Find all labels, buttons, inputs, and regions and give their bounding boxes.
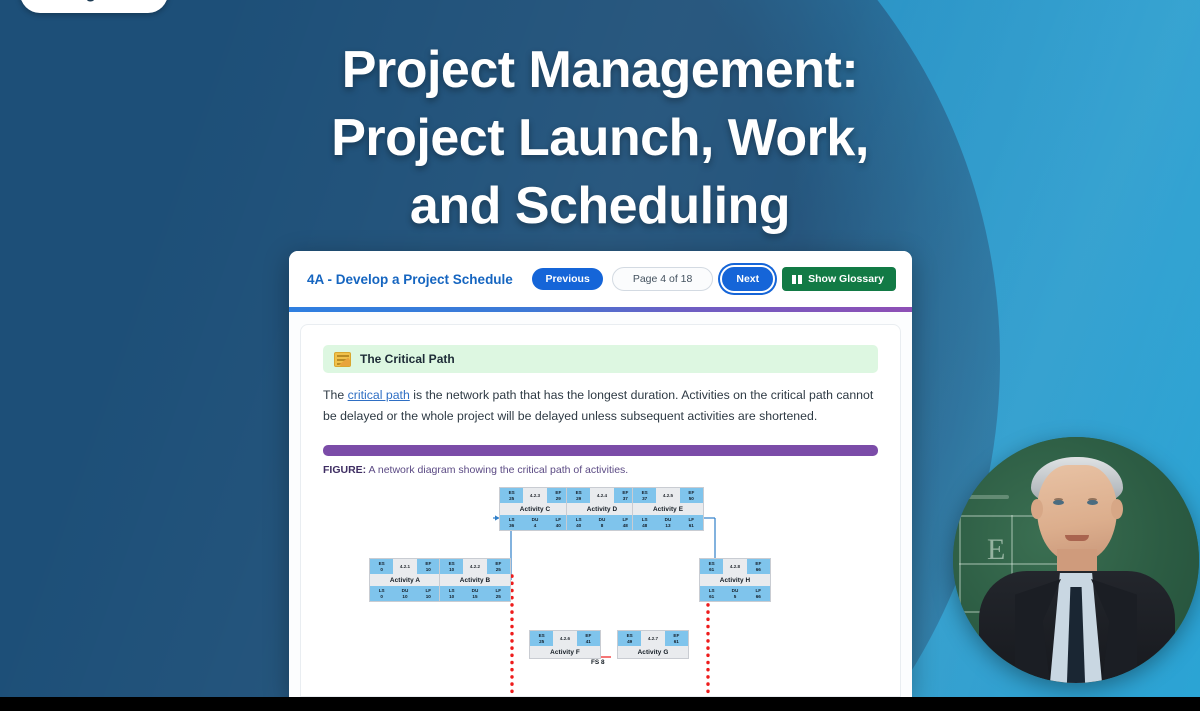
avatar-mouth (1065, 535, 1089, 541)
diagram-node: ES04.2.1EF10Activity ALS0DU10LF10 (369, 558, 441, 602)
node-du: DU4 (523, 515, 546, 530)
node-code: 4.2.8 (723, 559, 746, 574)
page-indicator: Page 4 of 18 (612, 267, 714, 292)
node-ls: LS61 (700, 586, 723, 601)
critical-path-link[interactable]: critical path (348, 388, 410, 402)
node-code: 4.2.1 (393, 559, 416, 574)
fs-lag-label: FS 8 (591, 659, 605, 666)
node-code: 4.2.4 (590, 488, 613, 503)
show-glossary-label: Show Glossary (808, 274, 884, 285)
node-code: 4.2.6 (553, 631, 576, 646)
node-du: DU13 (656, 515, 679, 530)
figure-caption: FIGURE: A network diagram showing the cr… (323, 464, 878, 476)
node-activity-name: Activity H (700, 574, 770, 586)
node-du: DU15 (463, 586, 486, 601)
node-ls: LS36 (500, 515, 523, 530)
node-activity-name: Activity C (500, 503, 570, 515)
node-es: ES10 (440, 559, 463, 574)
node-ls: LS10 (440, 586, 463, 601)
title-line-2: Project Launch, Work, (0, 104, 1200, 172)
node-du: DU8 (590, 515, 613, 530)
node-activity-name: Activity F (530, 646, 600, 658)
diagram-node: ES294.2.4EF37Activity DLS40DU8LF48 (566, 487, 638, 531)
chalk-smudge (967, 495, 1009, 499)
show-glossary-button[interactable]: Show Glossary (782, 267, 896, 292)
avatar-eye-left (1053, 500, 1064, 505)
node-du: DU10 (393, 586, 416, 601)
title-line-3: and Scheduling (0, 172, 1200, 240)
figure-caption-text: A network diagram showing the critical p… (366, 464, 628, 476)
diagram-node: ES494.2.7EF61Activity G (617, 630, 689, 659)
node-ef: EF41 (577, 631, 600, 646)
paragraph-before-link: The (323, 388, 348, 402)
topic-badge-label: Management (42, 0, 146, 3)
diagram-node: ES254.2.6EF41Activity F (529, 630, 601, 659)
figure-caption-label: FIGURE: (323, 464, 366, 476)
node-ls: LS48 (633, 515, 656, 530)
book-icon (792, 275, 802, 284)
courseware-toolbar: 4A - Develop a Project Schedule Previous… (289, 251, 912, 307)
node-activity-name: Activity G (618, 646, 688, 658)
diagram-node: ES254.2.3EF29Activity CLS36DU4LF40 (499, 487, 571, 531)
avatar-head (1037, 465, 1117, 561)
node-code: 4.2.3 (523, 488, 546, 503)
node-ef: EF66 (747, 559, 770, 574)
avatar-eye-right (1087, 500, 1098, 505)
lesson-title: 4A - Develop a Project Schedule (307, 272, 513, 287)
node-ef: EF25 (487, 559, 510, 574)
node-es: ES61 (700, 559, 723, 574)
diagram-node: ES614.2.8EF66Activity HLS61DU5LF66 (699, 558, 771, 602)
title-line-1: Project Management: (0, 36, 1200, 104)
node-ef: EF10 (417, 559, 440, 574)
node-activity-name: Activity D (567, 503, 637, 515)
avatar-ear-right (1111, 499, 1123, 519)
content-sheet: The Critical Path The critical path is t… (300, 324, 901, 697)
previous-button[interactable]: Previous (532, 268, 602, 291)
node-lf: LF10 (417, 586, 440, 601)
callout-title: The Critical Path (360, 352, 455, 366)
node-es: ES29 (567, 488, 590, 503)
avatar-ear-left (1031, 499, 1043, 519)
node-ef: EF61 (665, 631, 688, 646)
navigation-cluster: Previous Page 4 of 18 Next Show Glossary (532, 267, 896, 292)
diagram-node: ES104.2.2EF25Activity BLS10DU15LF25 (439, 558, 511, 602)
node-ls: LS0 (370, 586, 393, 601)
topic-badge: Management (20, 0, 168, 13)
node-du: DU5 (723, 586, 746, 601)
diagram-node: ES374.2.5EF50Activity ELS48DU13LF61 (632, 487, 704, 531)
node-activity-name: Activity B (440, 574, 510, 586)
node-es: ES25 (530, 631, 553, 646)
node-lf: LF66 (747, 586, 770, 601)
node-lf: LF61 (680, 515, 703, 530)
node-code: 4.2.5 (656, 488, 679, 503)
bottom-letterbox-bar (0, 697, 1200, 711)
next-button[interactable]: Next (722, 267, 773, 292)
node-activity-name: Activity A (370, 574, 440, 586)
body-paragraph: The critical path is the network path th… (323, 385, 878, 427)
node-ls: LS40 (567, 515, 590, 530)
page-title: Project Management: Project Launch, Work… (0, 36, 1200, 240)
memo-icon (334, 352, 351, 367)
node-es: ES49 (618, 631, 641, 646)
callout-header: The Critical Path (323, 345, 878, 373)
slide-stage: Management Project Management: Project L… (0, 0, 1200, 697)
network-diagram: ES04.2.1EF10Activity ALS0DU10LF10ES104.2… (323, 484, 878, 697)
node-activity-name: Activity E (633, 503, 703, 515)
bottom-page-margin (0, 711, 1200, 720)
instructor-video[interactable]: E (953, 437, 1199, 683)
courseware-body: The Critical Path The critical path is t… (289, 312, 912, 697)
node-es: ES25 (500, 488, 523, 503)
node-es: ES37 (633, 488, 656, 503)
node-es: ES0 (370, 559, 393, 574)
figure-accent-bar (323, 445, 878, 456)
chalk-letter-e: E (987, 533, 1005, 567)
node-code: 4.2.2 (463, 559, 486, 574)
node-code: 4.2.7 (641, 631, 664, 646)
node-ef: EF50 (680, 488, 703, 503)
node-lf: LF25 (487, 586, 510, 601)
courseware-card: 4A - Develop a Project Schedule Previous… (289, 251, 912, 697)
